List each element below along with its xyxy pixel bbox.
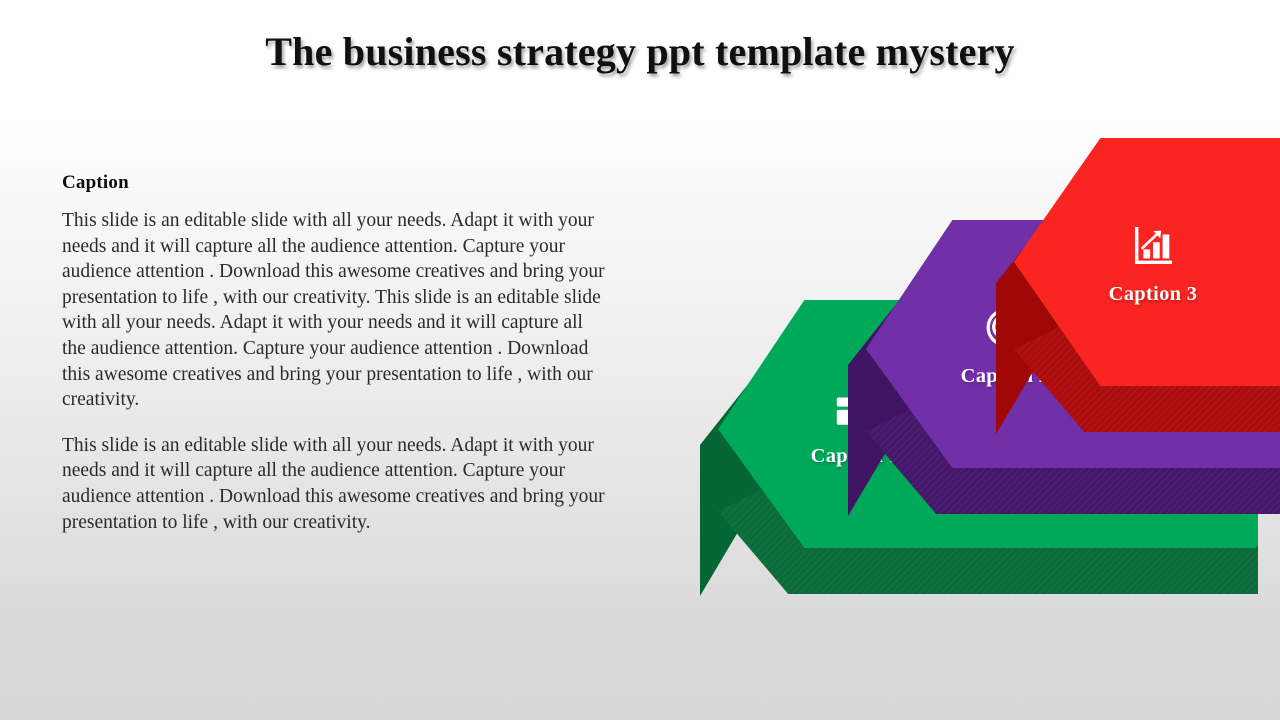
text-panel: Caption This slide is an editable slide … — [62, 172, 610, 535]
caption-heading: Caption — [62, 172, 610, 194]
slide-canvas: The business strategy ppt template myste… — [0, 0, 1280, 720]
page-title: The business strategy ppt template myste… — [0, 28, 1280, 75]
body-paragraph-1: This slide is an editable slide with all… — [62, 208, 610, 413]
diagram-layer-caption-3[interactable]: Caption 3 — [996, 138, 1280, 468]
body-paragraph-2: This slide is an editable slide with all… — [62, 433, 610, 535]
stacked-hexagon-diagram: Caption 1 Caption 2 — [700, 120, 1280, 680]
